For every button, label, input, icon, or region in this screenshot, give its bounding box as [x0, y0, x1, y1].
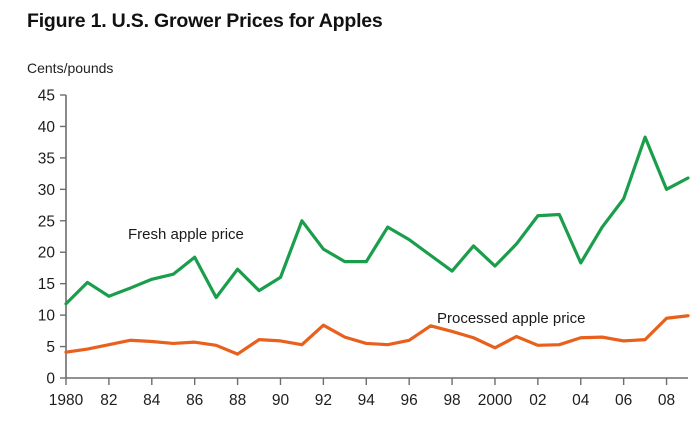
y-tick-label: 5	[46, 339, 55, 356]
x-tick-label: 2000	[478, 392, 513, 409]
y-tick-label: 15	[38, 276, 55, 293]
fresh-price-annotation: Fresh apple price	[128, 226, 244, 243]
x-tick-label: 04	[572, 392, 590, 409]
x-tick-label: 92	[315, 392, 332, 409]
x-tick-label: 08	[658, 392, 675, 409]
x-tick-label: 98	[443, 392, 460, 409]
series-line-processed-apple-price	[66, 316, 688, 354]
y-tick-label: 10	[38, 308, 56, 325]
x-tick-label: 96	[401, 392, 418, 409]
y-tick-label: 30	[38, 182, 56, 199]
x-tick-label: 06	[615, 392, 632, 409]
x-tick-label: 88	[229, 392, 246, 409]
y-axis: 051015202530354045	[38, 88, 66, 388]
x-tick-label: 1980	[49, 392, 84, 409]
processed-price-annotation: Processed apple price	[437, 310, 585, 327]
chart-series-group	[66, 137, 688, 354]
x-tick-label: 90	[272, 392, 290, 409]
y-tick-label: 40	[38, 119, 56, 136]
x-tick-label: 86	[186, 392, 203, 409]
y-tick-label: 20	[38, 245, 56, 262]
y-tick-label: 35	[38, 150, 55, 167]
x-tick-label: 02	[529, 392, 546, 409]
x-tick-label: 82	[100, 392, 117, 409]
y-tick-label: 0	[46, 371, 55, 388]
x-axis: 1980828486889092949698200002040608	[49, 378, 688, 409]
chart-plot-area: 051015202530354045 198082848688909294969…	[0, 0, 700, 423]
x-tick-label: 84	[143, 392, 161, 409]
y-tick-label: 45	[38, 88, 55, 105]
line-chart: 051015202530354045 198082848688909294969…	[0, 0, 700, 423]
x-tick-label: 94	[358, 392, 376, 409]
y-tick-label: 25	[38, 213, 55, 230]
figure-container: Figure 1. U.S. Grower Prices for Apples …	[0, 0, 700, 423]
series-line-fresh-apple-price	[66, 137, 688, 304]
